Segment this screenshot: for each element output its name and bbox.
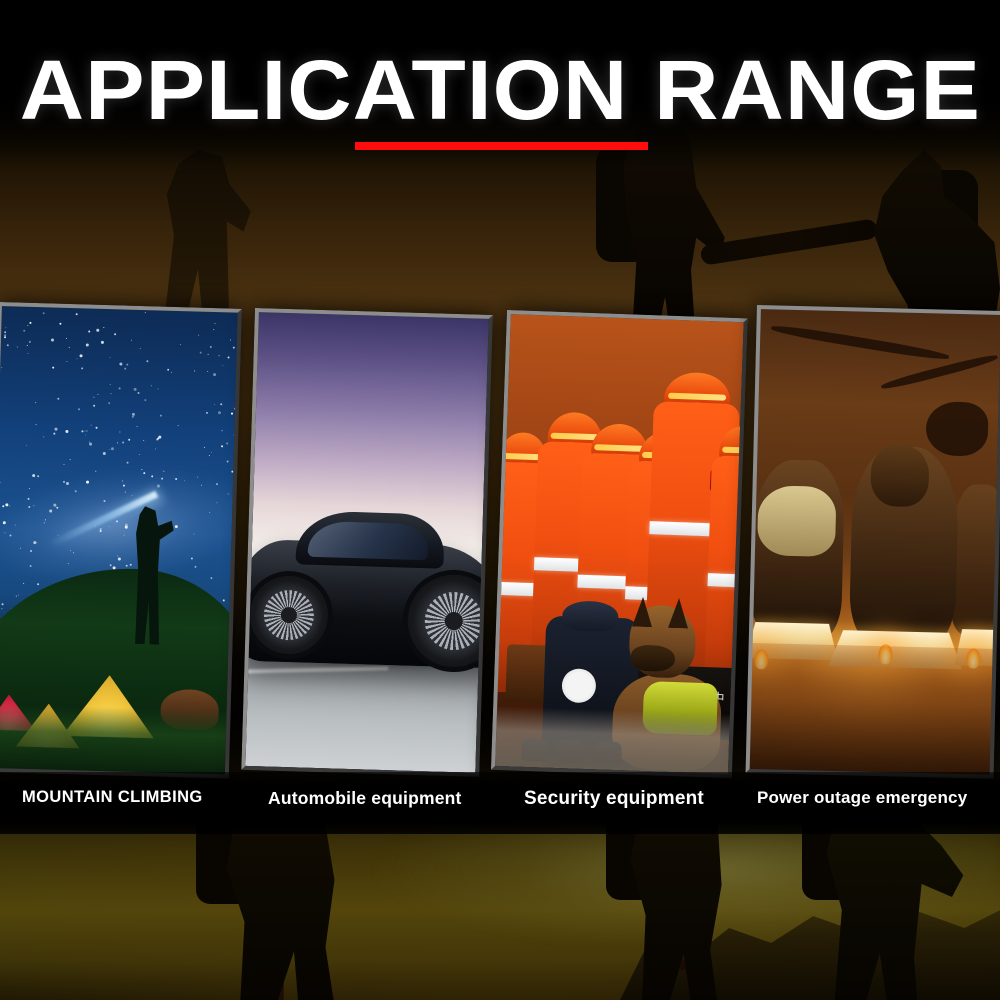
car-window (308, 521, 429, 561)
dog-snout (630, 645, 675, 673)
floor-foreground (750, 643, 993, 775)
title-container: APPLICATION RANGE (0, 48, 1000, 132)
caption-mountain-climbing: MOUNTAIN CLIMBING (22, 788, 203, 807)
rubble-ground (495, 706, 730, 774)
application-range-banner: APPLICATION RANGE (0, 0, 1000, 1000)
panel-4-image (750, 309, 1000, 775)
panel-1-image (0, 306, 238, 774)
panel-security-equipment[interactable]: 中 (491, 310, 748, 778)
page-title: APPLICATION RANGE (19, 48, 980, 132)
panel-mountain-climbing[interactable] (0, 302, 242, 779)
wall-marking-3 (925, 401, 988, 456)
panel-power-outage-emergency[interactable] (746, 305, 1000, 779)
panel-automobile-equipment[interactable] (241, 308, 493, 777)
caption-automobile-equipment: Automobile equipment (268, 788, 462, 809)
panel-2-image (245, 312, 488, 773)
reflective-stripe (707, 573, 743, 588)
handler-patch (561, 668, 596, 703)
child-center-head (870, 444, 929, 507)
caption-power-outage-emergency: Power outage emergency (757, 788, 967, 808)
grass-foreground (0, 704, 227, 775)
panel-3-image: 中 (495, 314, 744, 774)
child-left-scarf (757, 485, 837, 557)
caption-security-equipment: Security equipment (524, 788, 704, 810)
title-underline-accent (355, 142, 648, 150)
